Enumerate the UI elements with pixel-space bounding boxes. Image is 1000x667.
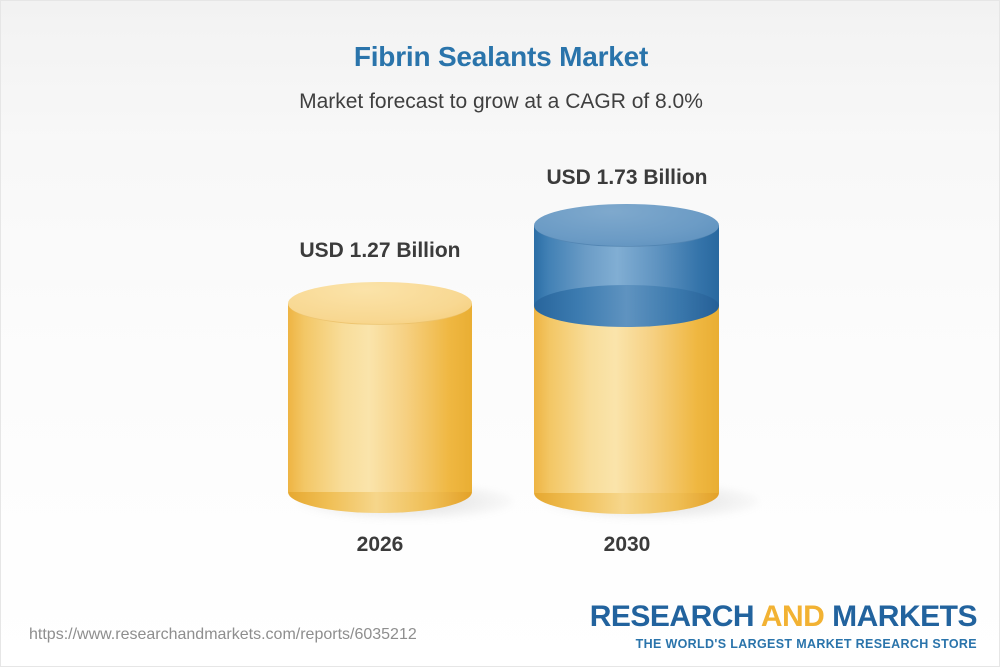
cylinder-growth-bottom-cap-2030 bbox=[534, 285, 719, 327]
source-url[interactable]: https://www.researchandmarkets.com/repor… bbox=[29, 626, 417, 644]
data-label-2030: USD 1.73 Billion bbox=[527, 166, 727, 190]
brand-logo-wordmark: RESEARCH AND MARKETS bbox=[590, 602, 977, 632]
cylinder-base-body-2030 bbox=[534, 306, 719, 493]
brand-tagline: THE WORLD'S LARGEST MARKET RESEARCH STOR… bbox=[590, 638, 977, 651]
chart-plot-area: USD 1.27 Billion 2026 USD 1.73 Billion 2… bbox=[1, 1, 1000, 667]
cylinder-growth-top-cap-2030 bbox=[534, 204, 719, 247]
data-label-2026: USD 1.27 Billion bbox=[280, 239, 480, 263]
brand-word-research: RESEARCH bbox=[590, 600, 754, 633]
brand-logo: RESEARCH AND MARKETS THE WORLD'S LARGEST… bbox=[590, 602, 977, 651]
brand-word-and: AND bbox=[761, 600, 825, 633]
category-label-2030: 2030 bbox=[527, 533, 727, 557]
bar-cylinder-2030[interactable] bbox=[534, 204, 719, 514]
bar-cylinder-2026[interactable] bbox=[288, 282, 472, 514]
cylinder-body-2026 bbox=[288, 303, 472, 492]
chart-canvas: Fibrin Sealants Market Market forecast t… bbox=[0, 0, 1000, 667]
category-label-2026: 2026 bbox=[280, 533, 480, 557]
cylinder-top-cap-2026 bbox=[288, 282, 472, 325]
brand-word-markets: MARKETS bbox=[832, 600, 977, 633]
